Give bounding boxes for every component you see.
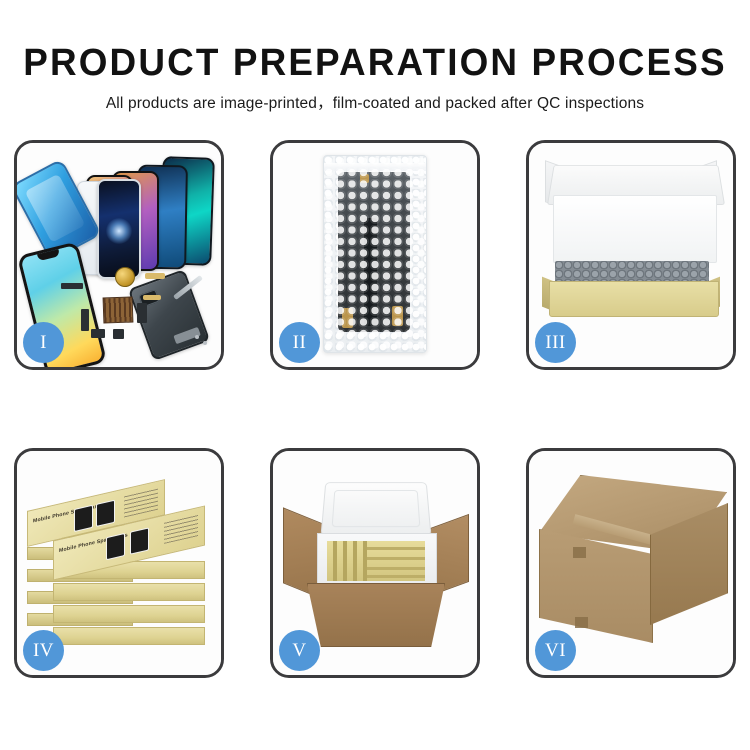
page-title: PRODUCT PREPARATION PROCESS bbox=[11, 0, 739, 82]
bag-seal-seam bbox=[324, 163, 426, 171]
packed-box-row-3 bbox=[367, 567, 425, 570]
carton-seal-mark-bottom bbox=[575, 617, 588, 628]
packed-box-divider-3 bbox=[353, 541, 357, 581]
earpiece-speaker-part bbox=[61, 283, 83, 289]
carton-seal-mark-top bbox=[573, 547, 586, 558]
process-step-panel-3: III bbox=[526, 140, 736, 370]
carton-body bbox=[307, 583, 445, 647]
box-edge-r3 bbox=[53, 605, 205, 623]
page-subtitle: All products are image-printed，film-coat… bbox=[0, 82, 750, 112]
packed-box-row-4 bbox=[367, 575, 425, 578]
packed-retail-boxes bbox=[327, 541, 425, 581]
step-badge-1: I bbox=[23, 322, 64, 363]
phone-notch bbox=[37, 249, 60, 261]
packed-box-divider-2 bbox=[343, 541, 347, 581]
gold-tab-left bbox=[342, 308, 353, 328]
flex-cable-part-b bbox=[137, 303, 147, 323]
packed-box-row-1 bbox=[367, 547, 425, 550]
white-foam-sheet bbox=[553, 195, 717, 263]
box-edge-r2 bbox=[53, 583, 205, 601]
gold-flex-strip-b bbox=[143, 295, 161, 300]
retail-box-spec-lines-front bbox=[164, 514, 198, 544]
screw-part-b bbox=[203, 341, 207, 345]
box-edge-r4 bbox=[53, 627, 205, 645]
product-preparation-process-page: PRODUCT PREPARATION PROCESS All products… bbox=[0, 0, 750, 750]
retail-box-window-front-a bbox=[106, 533, 125, 560]
process-step-panel-2: II bbox=[270, 140, 480, 370]
ic-chip-grid-part bbox=[103, 296, 134, 323]
process-step-panel-6: VI bbox=[526, 448, 736, 678]
retail-box-window-rear-b bbox=[96, 500, 115, 527]
step-badge-6: VI bbox=[535, 630, 576, 671]
step-badge-4: IV bbox=[23, 630, 64, 671]
retail-box-window-front-b bbox=[130, 527, 149, 554]
connector-part bbox=[91, 329, 105, 338]
screw-part-a bbox=[195, 335, 199, 339]
flex-cable-part-a bbox=[81, 309, 89, 331]
retail-box-window-rear-a bbox=[74, 505, 93, 532]
retail-box-spec-lines-rear bbox=[124, 488, 158, 518]
packed-box-divider-1 bbox=[333, 541, 337, 581]
gold-flex-strip-a bbox=[145, 273, 165, 279]
vibration-motor-part bbox=[115, 267, 135, 287]
step-badge-3: III bbox=[535, 322, 576, 363]
button-part bbox=[113, 329, 124, 339]
gold-tab-right bbox=[392, 306, 403, 326]
foam-box-lid bbox=[320, 482, 431, 536]
screen-protector-tempered-glass bbox=[97, 179, 141, 279]
step-badge-2: II bbox=[279, 322, 320, 363]
kraft-box-front bbox=[549, 281, 719, 317]
process-step-panel-1: I bbox=[14, 140, 224, 370]
process-step-panel-5: V bbox=[270, 448, 480, 678]
packed-box-row-2 bbox=[367, 557, 425, 560]
step-badge-5: V bbox=[279, 630, 320, 671]
page-header: PRODUCT PREPARATION PROCESS All products… bbox=[0, 0, 750, 112]
bubble-wrap-bag bbox=[323, 155, 427, 353]
process-step-panel-4: Mobile Phone Spare Parts Mobile Phone Sp… bbox=[14, 448, 224, 678]
process-steps-grid: I II bbox=[14, 140, 736, 682]
gold-tab-top bbox=[360, 174, 369, 183]
lcd-flex-cable bbox=[364, 218, 377, 326]
